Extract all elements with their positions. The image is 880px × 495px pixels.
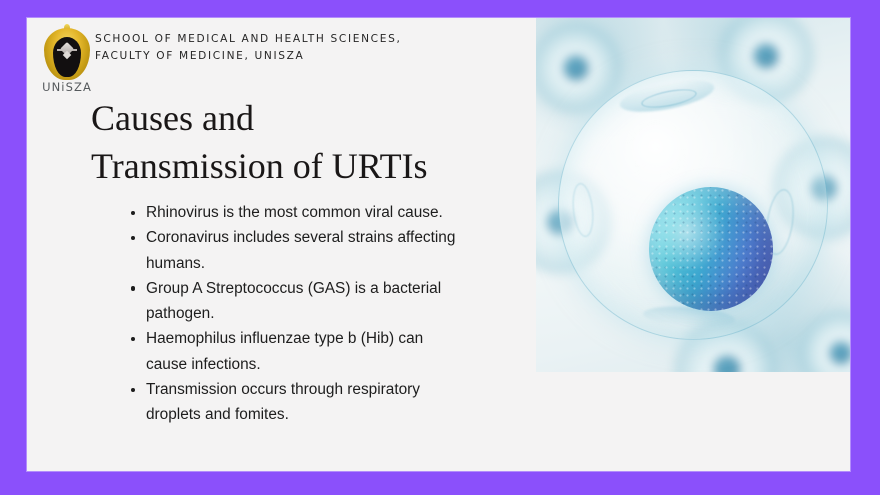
virus-capsid: [649, 187, 773, 311]
virus-particle: [611, 149, 811, 349]
header-line-2: FACULTY OF MEDICINE, UNISZA: [95, 48, 495, 65]
list-item: Group A Streptococcus (GAS) is a bacteri…: [127, 276, 457, 327]
list-item: Rhinovirus is the most common viral caus…: [127, 200, 457, 225]
slide-canvas: UNiSZA SCHOOL OF MEDICAL AND HEALTH SCIE…: [0, 0, 880, 495]
presentation-slide: UNiSZA SCHOOL OF MEDICAL AND HEALTH SCIE…: [27, 18, 850, 471]
header-line-1: SCHOOL OF MEDICAL AND HEALTH SCIENCES,: [95, 31, 495, 48]
unisza-crest-icon: [44, 24, 90, 82]
bullet-list: Rhinovirus is the most common viral caus…: [127, 200, 457, 428]
slide-title-line-1: Causes and: [91, 94, 531, 142]
institution-header: SCHOOL OF MEDICAL AND HEALTH SCIENCES, F…: [95, 31, 495, 64]
bubble-membrane: [558, 70, 828, 340]
virus-surface-texture: [649, 187, 773, 311]
slide-title-line-2: Transmission of URTIs: [91, 142, 531, 190]
virus-photo: [536, 18, 850, 372]
slide-title: Causes and Transmission of URTIs: [91, 94, 531, 190]
list-item: Coronavirus includes several strains aff…: [127, 225, 457, 276]
list-item: Transmission occurs through respiratory …: [127, 377, 457, 428]
bubble-highlight: [570, 182, 596, 238]
unisza-wordmark: UNiSZA: [32, 80, 102, 94]
unisza-logo: UNiSZA: [32, 22, 102, 104]
list-item: Haemophilus influenzae type b (Hib) can …: [127, 326, 457, 377]
